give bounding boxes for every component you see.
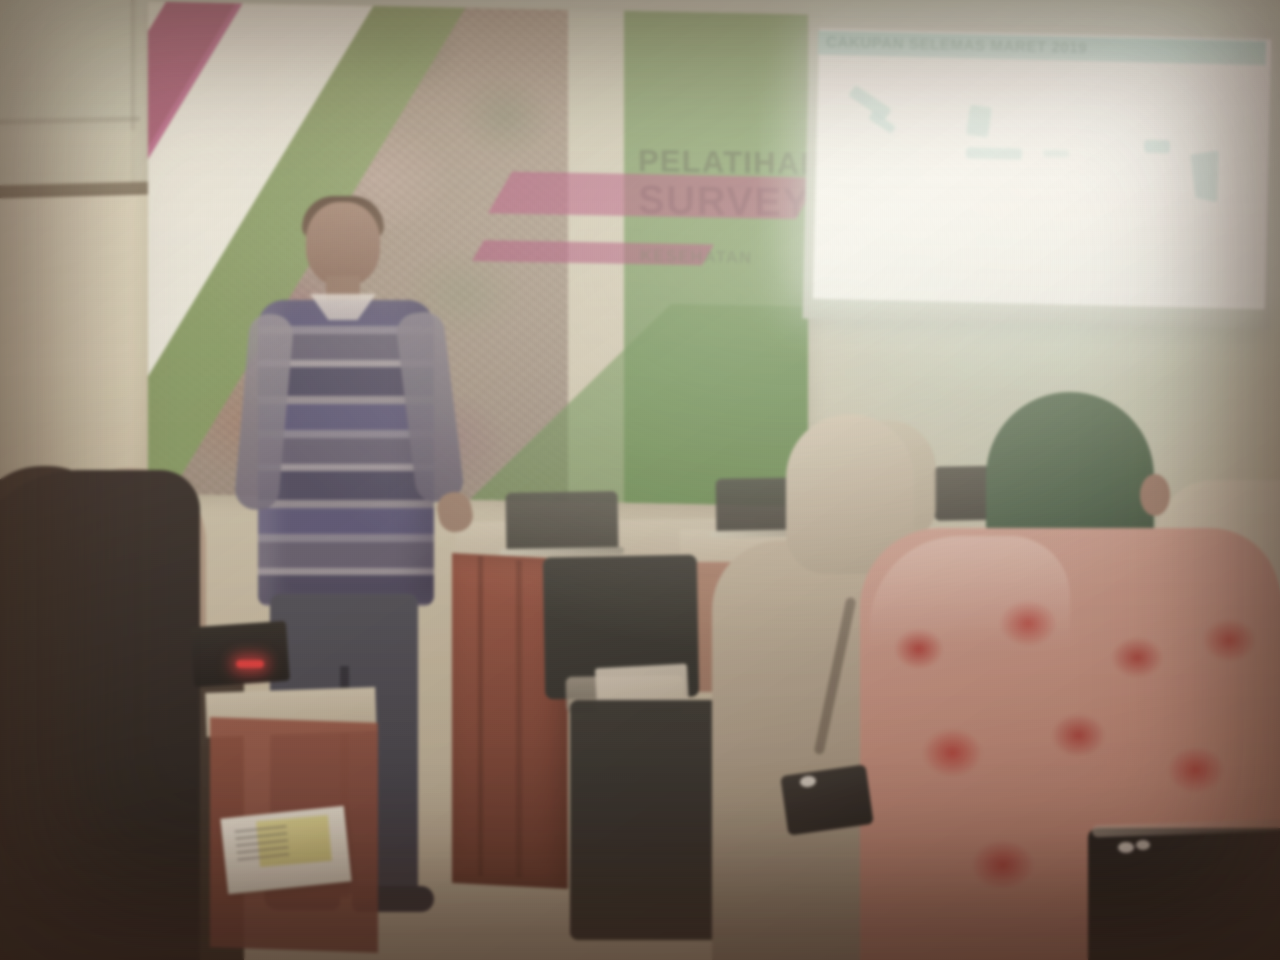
presenter-head	[306, 202, 380, 286]
slide-map-shape	[966, 105, 992, 138]
meeting-room-photo: PELATIHAN SURVEY KESEHATAN CAKUPAN SELEM…	[0, 0, 1280, 960]
mobile-phone	[780, 764, 874, 835]
power-led-indicator	[236, 660, 264, 668]
laptop-device	[190, 621, 290, 688]
slide-map-shape	[1043, 150, 1069, 158]
table-skirting-fold	[516, 560, 522, 878]
chair-front-row	[570, 700, 720, 940]
chair-specular-dot	[1118, 842, 1134, 853]
wall-panel	[0, 0, 140, 120]
chair-foreground-right	[1088, 828, 1280, 960]
attendee-dark-hijab-body	[0, 470, 200, 960]
paper-text-lines	[235, 825, 290, 860]
slide-map-shape	[966, 147, 1022, 159]
chair-back-row	[505, 491, 618, 555]
banner-title-line-2: SURVEY	[638, 178, 808, 228]
slide-map-shape	[1144, 140, 1170, 154]
attendee-ear	[1140, 474, 1170, 516]
chair-specular-dot	[1136, 840, 1150, 850]
